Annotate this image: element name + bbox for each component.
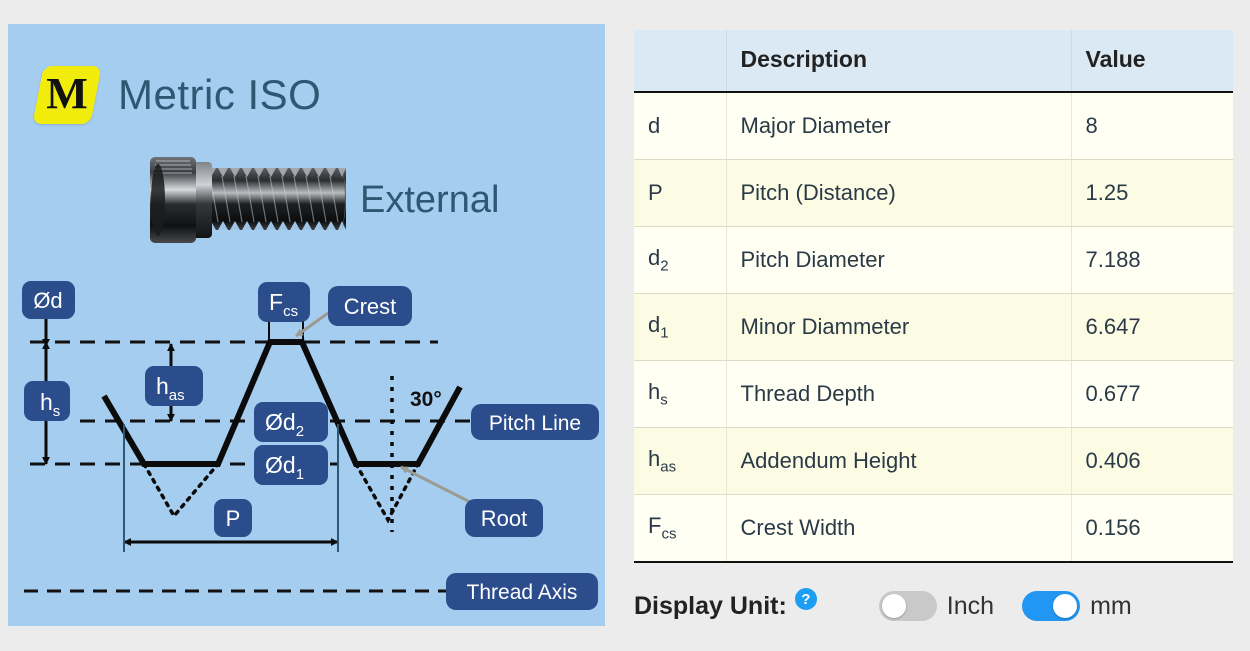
root-leader-line xyxy=(401,467,470,502)
display-unit-row: Display Unit: ? Inch mm xyxy=(634,586,1132,626)
display-unit-label: Display Unit: xyxy=(634,592,787,621)
callout-addendum-height: has xyxy=(145,366,203,406)
flank-angle-label: 30° xyxy=(410,388,442,411)
callout-pitch-line-label: Pitch Line xyxy=(489,412,581,435)
cell-symbol: d xyxy=(634,92,726,160)
table-header-row: Description Value xyxy=(634,30,1233,92)
thread-profile-drawing: 30° Ød hs has Fcs xyxy=(8,24,605,626)
mm-label: mm xyxy=(1090,592,1132,621)
table-row: FcsCrest Width0.156 xyxy=(634,495,1233,563)
mm-toggle-knob xyxy=(1053,594,1077,618)
callout-pitch-line: Pitch Line xyxy=(471,404,599,440)
inch-toggle-knob xyxy=(882,594,906,618)
cell-value: 1.25 xyxy=(1071,160,1233,227)
callout-thread-axis: Thread Axis xyxy=(446,573,598,610)
callout-crest-label: Crest xyxy=(344,294,397,319)
cell-description: Thread Depth xyxy=(726,361,1071,428)
cell-value: 0.677 xyxy=(1071,361,1233,428)
cell-description: Crest Width xyxy=(726,495,1071,563)
cell-value: 7.188 xyxy=(1071,227,1233,294)
table-row: hsThread Depth0.677 xyxy=(634,361,1233,428)
cell-value: 0.406 xyxy=(1071,428,1233,495)
specification-table-wrapper: Description Value dMajor Diameter8PPitch… xyxy=(634,30,1233,563)
cell-symbol: hs xyxy=(634,361,726,428)
cell-value: 8 xyxy=(1071,92,1233,160)
callout-major-diameter: Ød xyxy=(22,281,75,319)
cell-description: Major Diameter xyxy=(726,92,1071,160)
cell-symbol: d1 xyxy=(634,294,726,361)
header-value: Value xyxy=(1071,30,1233,92)
header-description: Description xyxy=(726,30,1071,92)
callout-crest: Crest xyxy=(328,286,412,326)
cell-description: Minor Diammeter xyxy=(726,294,1071,361)
cell-symbol: P xyxy=(634,160,726,227)
theoretical-root-v-left xyxy=(144,464,218,516)
cell-symbol: has xyxy=(634,428,726,495)
cell-description: Addendum Height xyxy=(726,428,1071,495)
callout-major-diameter-label: Ød xyxy=(33,288,62,313)
callout-pitch: P xyxy=(214,499,252,537)
thread-spec-page: M Metric ISO xyxy=(0,0,1250,651)
callout-minor-diameter: Ød1 xyxy=(254,445,328,485)
table-row: d1Minor Diammeter6.647 xyxy=(634,294,1233,361)
cell-symbol: d2 xyxy=(634,227,726,294)
cell-symbol: Fcs xyxy=(634,495,726,563)
callout-root-label: Root xyxy=(481,506,527,531)
inch-toggle[interactable] xyxy=(879,591,937,621)
table-row: d2Pitch Diameter7.188 xyxy=(634,227,1233,294)
callout-thread-depth: hs xyxy=(24,381,70,421)
callout-crest-width: Fcs xyxy=(258,282,310,322)
header-symbol xyxy=(634,30,726,92)
cell-description: Pitch Diameter xyxy=(726,227,1071,294)
table-row: hasAddendum Height0.406 xyxy=(634,428,1233,495)
callout-pitch-label: P xyxy=(226,506,241,531)
specification-table: Description Value dMajor Diameter8PPitch… xyxy=(634,30,1233,563)
callout-pitch-diameter: Ød2 xyxy=(254,402,328,442)
help-icon[interactable]: ? xyxy=(795,588,817,610)
table-row: dMajor Diameter8 xyxy=(634,92,1233,160)
thread-diagram-panel: M Metric ISO xyxy=(8,24,605,626)
inch-label: Inch xyxy=(947,592,994,621)
cell-value: 0.156 xyxy=(1071,495,1233,563)
cell-description: Pitch (Distance) xyxy=(726,160,1071,227)
mm-toggle[interactable] xyxy=(1022,591,1080,621)
cell-value: 6.647 xyxy=(1071,294,1233,361)
callout-root: Root xyxy=(465,499,543,537)
table-row: PPitch (Distance)1.25 xyxy=(634,160,1233,227)
callout-thread-axis-label: Thread Axis xyxy=(467,581,578,604)
